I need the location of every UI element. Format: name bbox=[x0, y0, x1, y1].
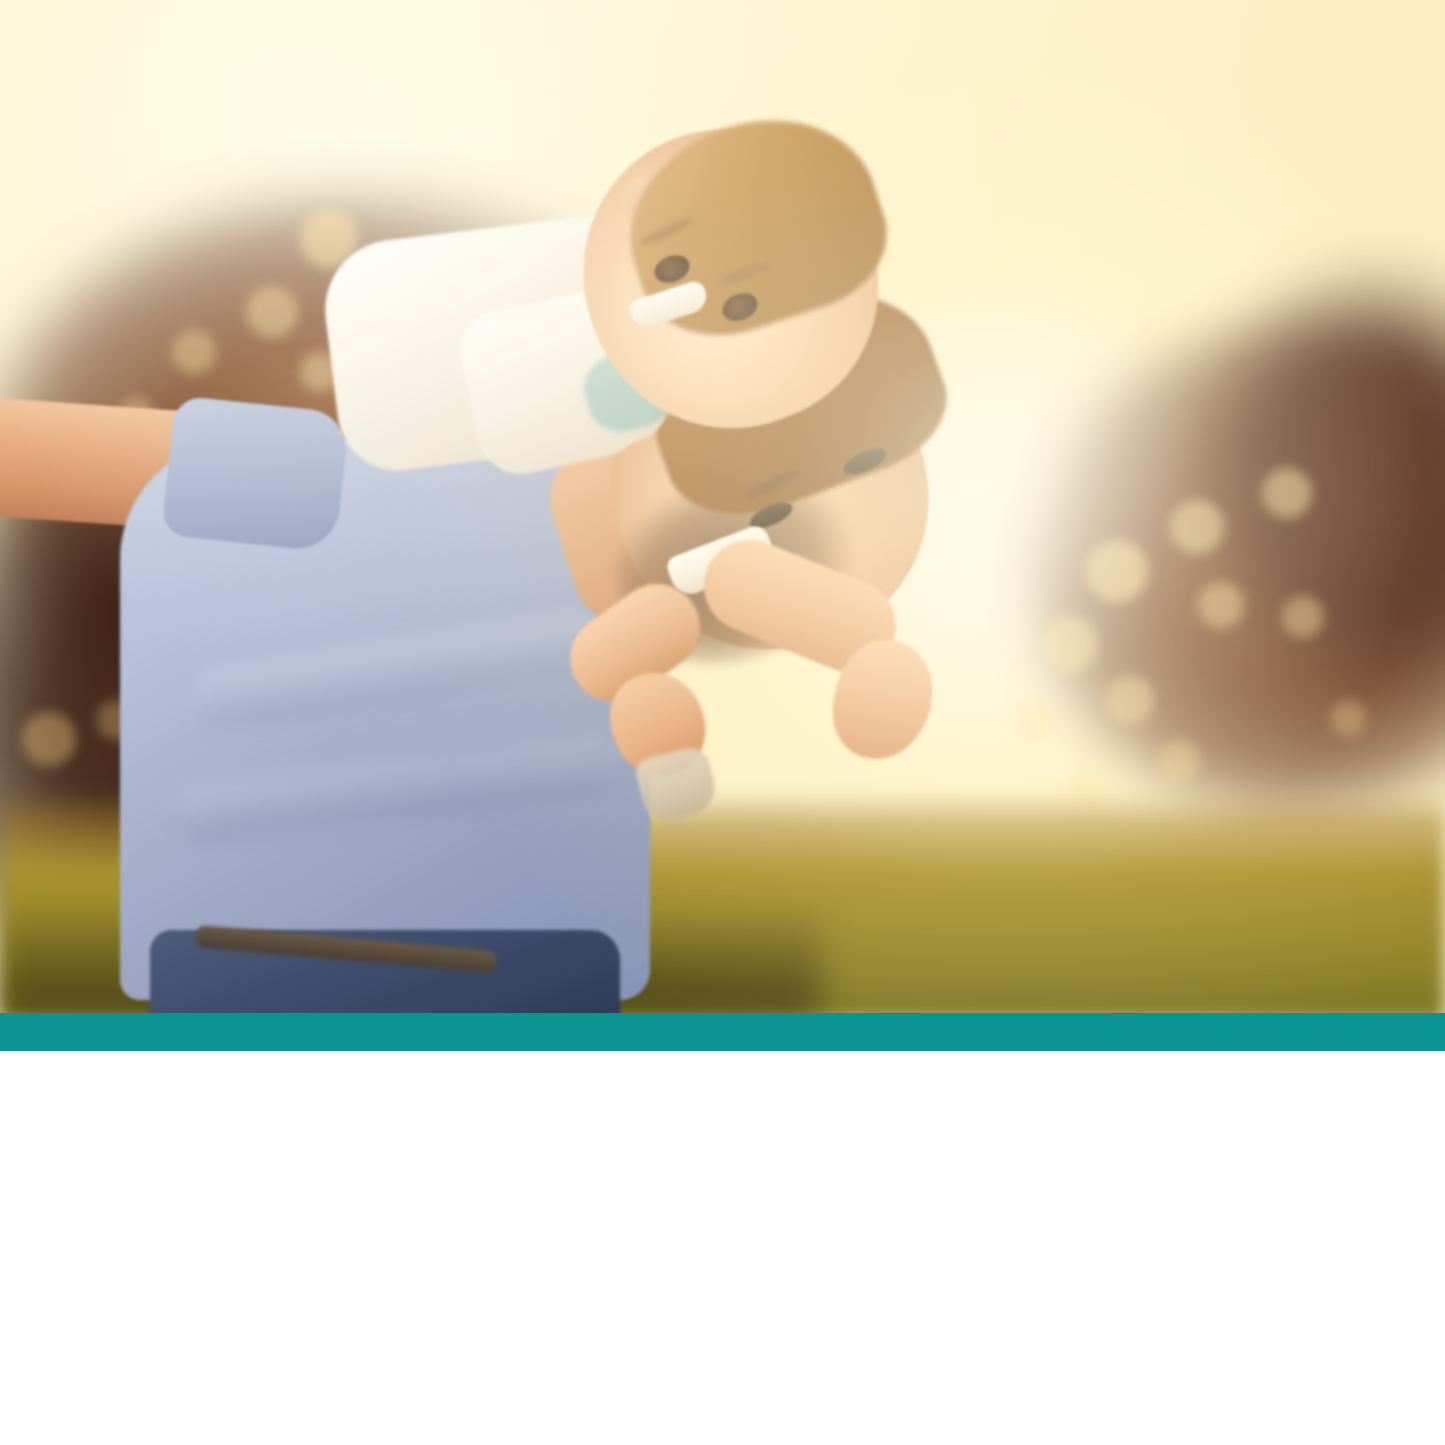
product-feature-card: Advanced Liposomal Vitamin C* An advance… bbox=[0, 0, 1445, 1445]
copy-block: Advanced Liposomal Vitamin C* An advance… bbox=[0, 1051, 1445, 1445]
father-tshirt-sleeve bbox=[161, 395, 350, 553]
teal-divider-band bbox=[0, 1013, 1445, 1051]
hero-photo bbox=[0, 0, 1445, 1013]
tree-line-far-right bbox=[1140, 250, 1445, 770]
